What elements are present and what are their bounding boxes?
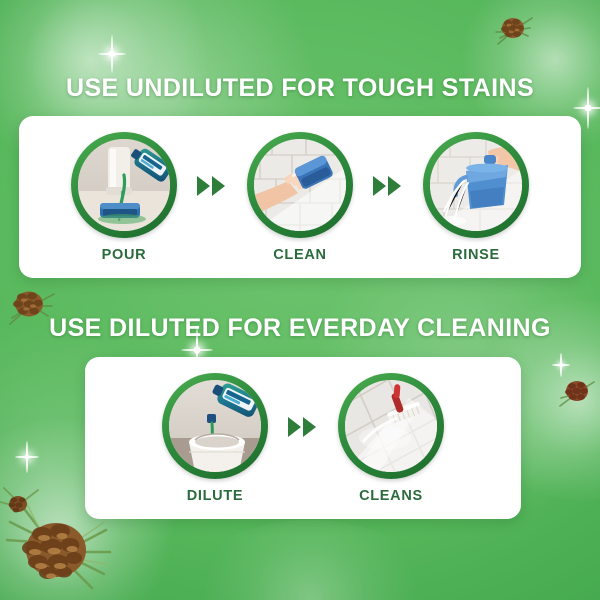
steps-row-undiluted: POUR [58, 132, 542, 263]
double-chevron-right-icon-2 [366, 175, 410, 197]
sparkle-mid-right [548, 352, 574, 378]
circle-ring-cleans [338, 373, 444, 479]
step-label-rinse: RINSE [452, 247, 500, 263]
pinecone-bottom-left-small [0, 486, 40, 525]
hand-scrubbing-tile-with-sponge-photo [254, 139, 346, 231]
step-label-pour: POUR [102, 247, 147, 263]
sparkle-top-left [92, 34, 132, 74]
section-heading-undiluted: USE UNDILUTED FOR TOUGH STAINS [0, 74, 600, 103]
sparkle-bottom-left [10, 440, 44, 474]
step-cleans: CLEANS [325, 373, 457, 504]
pinecone-right-middle [556, 372, 598, 417]
circle-ring-pour [71, 132, 177, 238]
bottle-pouring-onto-sponge-photo [78, 139, 170, 231]
bottle-pouring-into-bucket-photo [169, 380, 261, 472]
step-pour: POUR [58, 132, 190, 263]
pinecone-top-right [490, 8, 536, 55]
steps-panel-undiluted: POUR [19, 116, 581, 278]
section-heading-diluted: USE DILUTED FOR EVERDAY CLEANING [0, 314, 600, 343]
hand-pouring-water-from-jug-photo [430, 139, 522, 231]
double-chevron-right-icon-3 [281, 416, 325, 438]
double-chevron-right-icon-1 [190, 175, 234, 197]
step-rinse: RINSE [410, 132, 542, 263]
circle-ring-rinse [423, 132, 529, 238]
circle-ring-clean [247, 132, 353, 238]
light-bloom-center [180, 520, 440, 600]
circle-ring-dilute [162, 373, 268, 479]
product-usage-infographic: USE UNDILUTED FOR TOUGH STAINS [0, 0, 600, 600]
mop-cleaning-tiled-floor-photo [345, 380, 437, 472]
step-label-cleans: CLEANS [359, 488, 423, 504]
step-dilute: DILUTE [149, 373, 281, 504]
step-label-clean: CLEAN [273, 247, 326, 263]
step-label-dilute: DILUTE [187, 488, 244, 504]
steps-row-diluted: DILUTE [149, 373, 457, 504]
step-clean: CLEAN [234, 132, 366, 263]
steps-panel-diluted: DILUTE [85, 357, 521, 519]
